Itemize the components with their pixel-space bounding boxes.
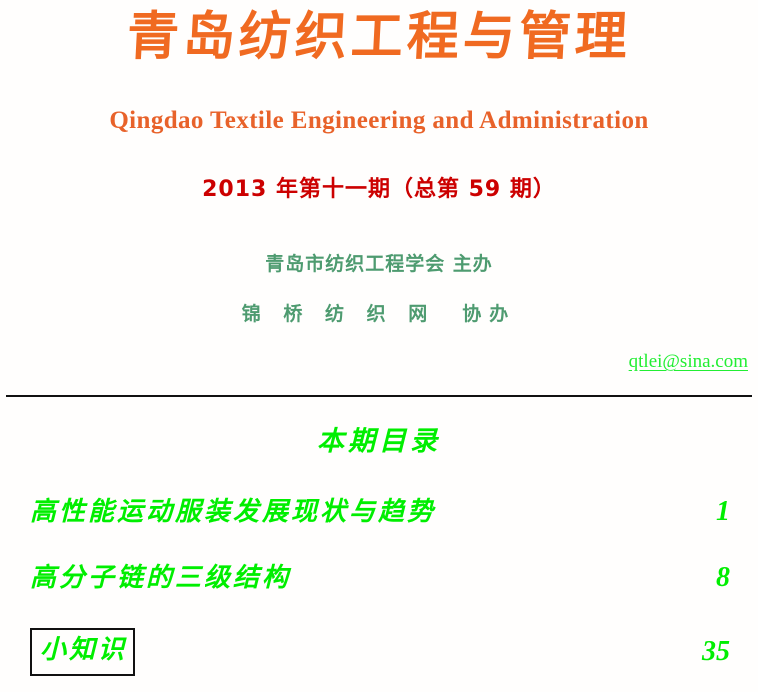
contact-email-row: qtlei@sina.com xyxy=(448,349,748,375)
email-link[interactable]: qtlei@sina.com xyxy=(629,351,748,372)
toc-entry[interactable]: 高性能运动服装发展现状与趋势 1 xyxy=(30,492,730,532)
toc-entry-page-number: 35 xyxy=(684,632,730,672)
toc-entry-title-boxed[interactable]: 小知识 xyxy=(30,628,135,676)
toc-entry-page-number: 1 xyxy=(684,492,730,532)
organizer-line: 青岛市纺织工程学会 主办 xyxy=(0,251,758,277)
issue-number-line: 2013 年第十一期（总第 59 期） xyxy=(0,175,758,205)
journal-cover-page: 青岛纺织工程与管理 Qingdao Textile Engineering an… xyxy=(0,0,758,692)
toc-heading: 本期目录 xyxy=(0,424,758,460)
toc-entry-title[interactable]: 高分子链的三级结构 xyxy=(30,558,291,598)
toc-entry[interactable]: 小知识 35 xyxy=(30,628,730,676)
toc-entry[interactable]: 高分子链的三级结构 8 xyxy=(30,558,730,598)
co-organizer-line: 锦 桥 纺 织 网 协办 xyxy=(0,301,758,327)
header-divider-rule xyxy=(6,395,752,397)
masthead-title-english: Qingdao Textile Engineering and Administ… xyxy=(0,105,758,137)
masthead-title-chinese: 青岛纺织工程与管理 xyxy=(0,6,758,68)
toc-entry-title[interactable]: 高性能运动服装发展现状与趋势 xyxy=(30,492,436,532)
toc-entry-page-number: 8 xyxy=(684,558,730,598)
